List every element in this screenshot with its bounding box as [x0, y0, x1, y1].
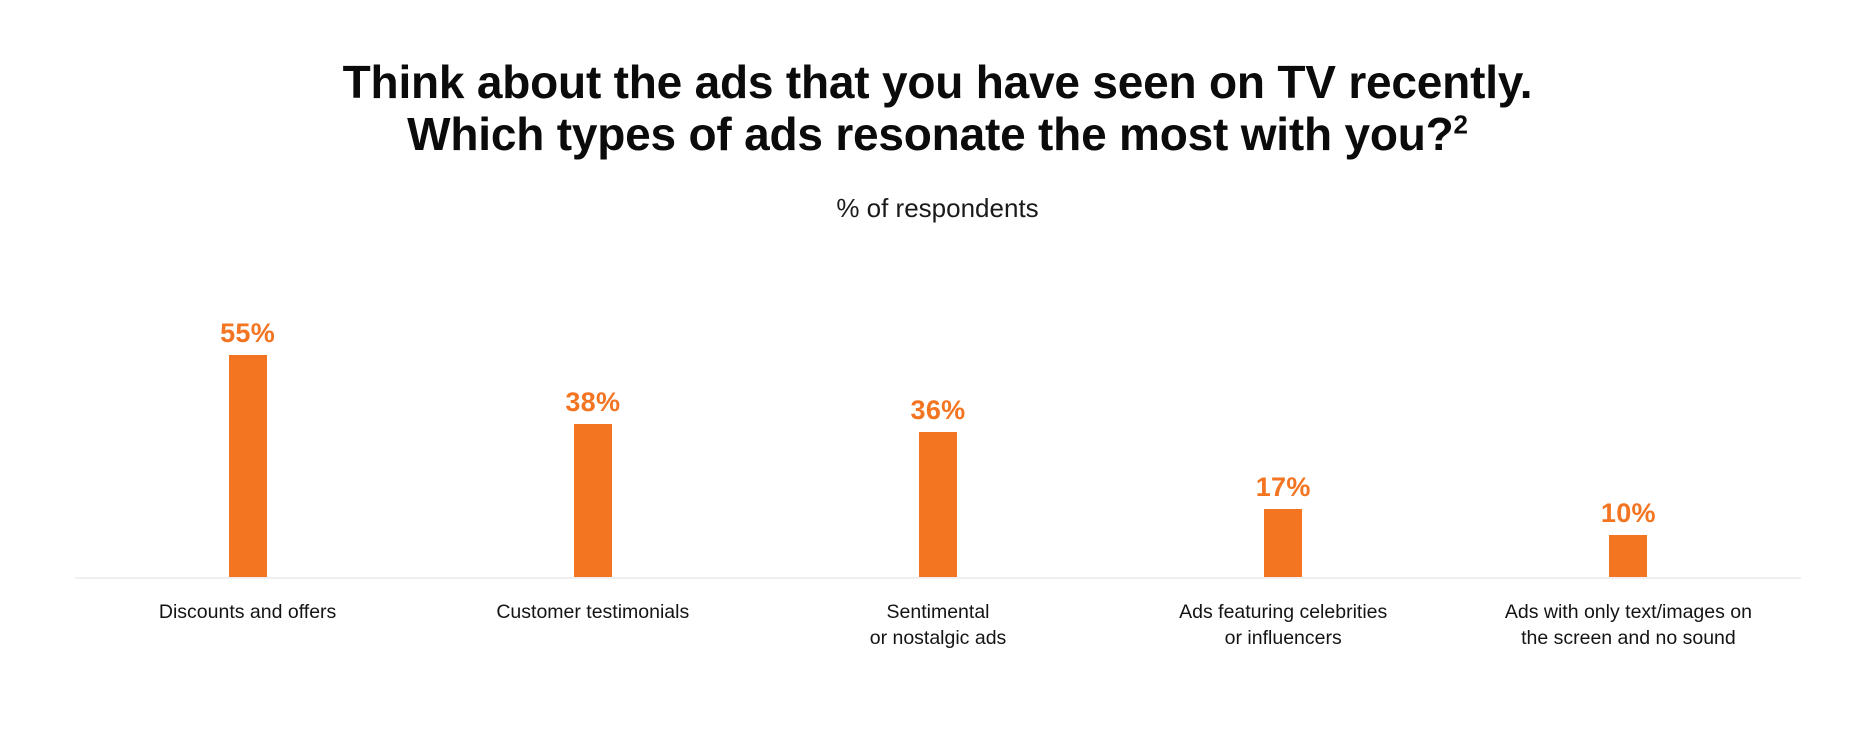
chart-title-line-1-text: Think about the ads that you have seen o… [343, 56, 1533, 108]
category-label-ads-with-only-text-images: Ads with only text/images on the screen … [1456, 599, 1801, 651]
bar-value-label-discounts-and-offers: 55% [220, 318, 275, 349]
category-label-sentimental-or-nostalgic-ads: Sentimental or nostalgic ads [765, 599, 1110, 651]
bar-customer-testimonials[interactable]: 38% [574, 424, 612, 577]
chart-title-line-1: Think about the ads that you have seen o… [0, 56, 1875, 108]
bars-container: 55% 38% 36% 17% 10% [75, 270, 1801, 577]
chart-subtitle: % of respondents [0, 193, 1875, 224]
bar-value-label-ads-featuring-celebrities-or-influencers: 17% [1256, 472, 1311, 503]
chart-title-footnote-superscript: 2 [1454, 110, 1468, 140]
bar-value-label-sentimental-or-nostalgic-ads: 36% [911, 395, 966, 426]
category-label-line-1: Sentimental [887, 601, 990, 623]
bar-column-ads-featuring-celebrities-or-influencers: 17% [1111, 270, 1456, 577]
bar-chart-figure: Think about the ads that you have seen o… [0, 0, 1875, 729]
bar-column-ads-with-only-text-images: 10% [1456, 270, 1801, 577]
bar-ads-featuring-celebrities-or-influencers[interactable]: 17% [1264, 509, 1302, 577]
category-label-line-1: Ads featuring celebrities [1179, 601, 1387, 623]
category-label-line-2: the screen and no sound [1460, 625, 1797, 651]
bar-value-label-ads-with-only-text-images: 10% [1601, 498, 1656, 529]
axis-baseline [75, 577, 1801, 579]
bar-column-customer-testimonials: 38% [420, 270, 765, 577]
bar-column-discounts-and-offers: 55% [75, 270, 420, 577]
category-label-line-2: or influencers [1115, 625, 1452, 651]
bar-sentimental-or-nostalgic-ads[interactable]: 36% [919, 432, 957, 577]
category-axis-labels: Discounts and offers Customer testimonia… [75, 599, 1801, 651]
category-label-line-2: or nostalgic ads [769, 625, 1106, 651]
bar-discounts-and-offers[interactable]: 55% [229, 355, 267, 577]
bar-column-sentimental-or-nostalgic-ads: 36% [765, 270, 1110, 577]
bar-ads-with-only-text-images[interactable]: 10% [1609, 535, 1647, 577]
category-label-customer-testimonials: Customer testimonials [420, 599, 765, 651]
chart-header: Think about the ads that you have seen o… [0, 56, 1875, 160]
bar-value-label-customer-testimonials: 38% [565, 387, 620, 418]
category-label-line-1: Ads with only text/images on [1505, 601, 1752, 623]
category-label-line-1: Discounts and offers [159, 601, 336, 623]
category-label-ads-featuring-celebrities-or-influencers: Ads featuring celebrities or influencers [1111, 599, 1456, 651]
category-label-discounts-and-offers: Discounts and offers [75, 599, 420, 651]
category-label-line-1: Customer testimonials [496, 601, 689, 623]
chart-title-line-2: Which types of ads resonate the most wit… [0, 108, 1875, 160]
chart-title-line-2-text: Which types of ads resonate the most wit… [407, 108, 1453, 160]
